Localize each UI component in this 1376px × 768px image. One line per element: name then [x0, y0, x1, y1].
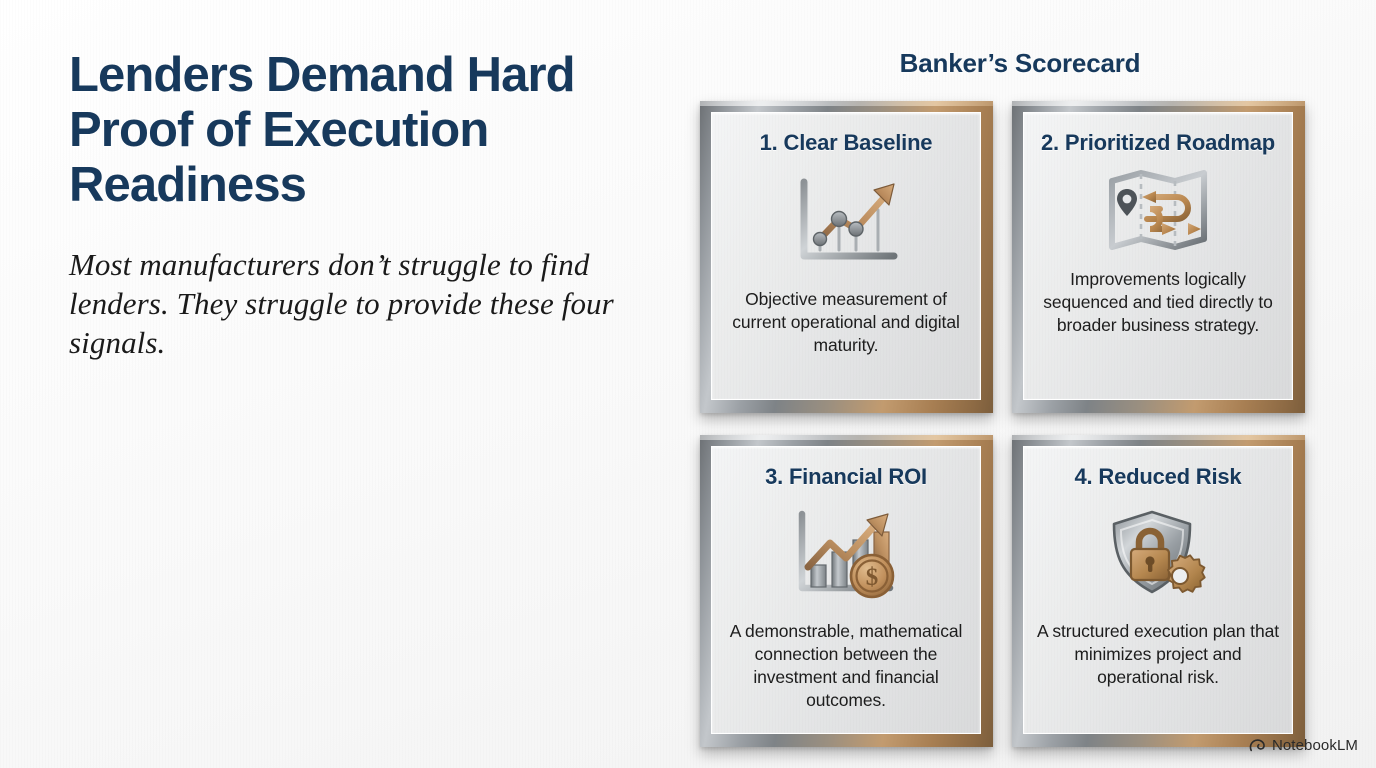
scorecard-card-clear-baseline[interactable]: 1. Clear Baseline [700, 101, 993, 413]
scorecard-card-prioritized-roadmap[interactable]: 2. Prioritized Roadmap [1012, 101, 1305, 413]
scorecard-card-financial-roi[interactable]: 3. Financial ROI [700, 435, 993, 747]
card-title: 3. Financial ROI [765, 463, 927, 492]
slide-canvas: Lenders Demand Hard Proof of Execution R… [0, 0, 1376, 768]
card-body: A structured execution plan that minimiz… [1037, 620, 1279, 689]
page-title: Lenders Demand Hard Proof of Execution R… [69, 48, 639, 213]
scorecard-card-grid: 1. Clear Baseline [700, 101, 1340, 747]
scorecard-card-reduced-risk[interactable]: 4. Reduced Risk [1012, 435, 1305, 747]
line-chart-upward-arrow-icon [790, 174, 902, 270]
card-title: 2. Prioritized Roadmap [1041, 129, 1275, 158]
scorecard-column: Banker’s Scorecard 1. Clear Baseline [700, 48, 1340, 747]
svg-text:$: $ [866, 564, 879, 591]
card-body: A demonstrable, mathematical connection … [725, 620, 967, 712]
card-body: Objective measurement of current operati… [725, 288, 967, 357]
card-inner-panel: 1. Clear Baseline [711, 112, 981, 400]
folded-map-route-arrows-icon [1106, 164, 1210, 256]
notebooklm-watermark: NotebookLM [1249, 737, 1358, 754]
card-inner-panel: 4. Reduced Risk [1023, 446, 1293, 734]
left-text-column: Lenders Demand Hard Proof of Execution R… [69, 48, 639, 363]
card-inner-panel: 3. Financial ROI [711, 446, 981, 734]
card-body: Improvements logically sequenced and tie… [1037, 268, 1279, 337]
scorecard-heading: Banker’s Scorecard [700, 48, 1340, 79]
page-subtitle: Most manufacturers don’t struggle to fin… [69, 245, 639, 363]
card-inner-panel: 2. Prioritized Roadmap [1023, 112, 1293, 400]
notebooklm-spiral-icon [1249, 738, 1266, 753]
notebooklm-label: NotebookLM [1272, 737, 1358, 754]
shield-padlock-gear-icon [1108, 506, 1208, 602]
bar-chart-dollar-coin-icon: $ [790, 508, 902, 604]
card-title: 4. Reduced Risk [1075, 463, 1242, 492]
card-title: 1. Clear Baseline [760, 129, 933, 158]
